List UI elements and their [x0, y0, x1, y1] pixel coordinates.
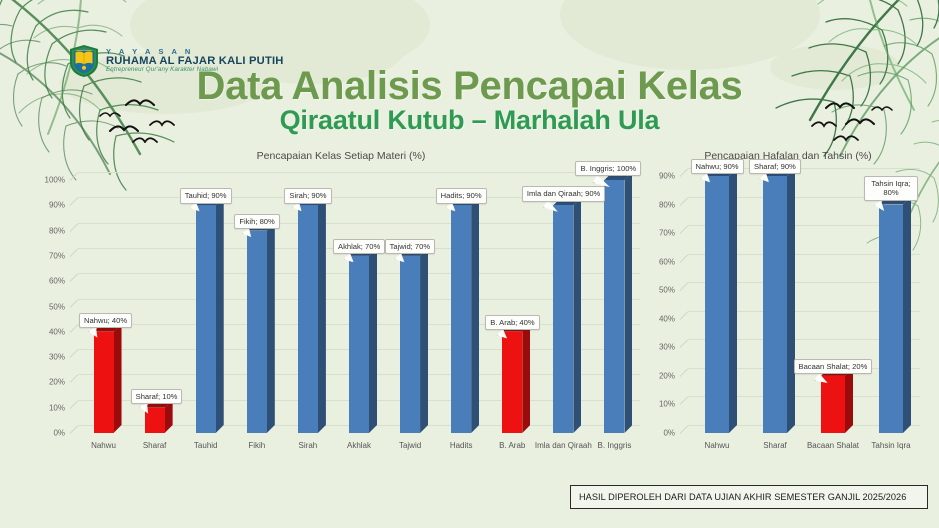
- page-title: Data Analisis Pencapai Kelas: [0, 64, 939, 109]
- y-axis-tick: 20%: [36, 378, 65, 387]
- y-axis-tick: 60%: [648, 257, 675, 266]
- data-label-callout: Sirah; 90%: [284, 188, 331, 203]
- x-axis-tick: B. Inggris: [583, 441, 646, 451]
- gridline-depth: [70, 375, 79, 384]
- bar-front-face: [349, 256, 369, 433]
- gridline-depth: [70, 248, 79, 257]
- bar-sirah[interactable]: [298, 205, 326, 433]
- footnote-box: HASIL DIPEROLEH DARI DATA UJIAN AKHIR SE…: [570, 485, 928, 509]
- data-label-callout: Fikih; 80%: [234, 214, 279, 229]
- y-axis-tick: 90%: [648, 172, 675, 181]
- gridline-depth: [70, 273, 79, 282]
- gridline-depth: [70, 223, 79, 232]
- cloud-decoration: [560, 0, 820, 70]
- bar-side-face: [471, 197, 479, 433]
- bar-side-face: [267, 223, 275, 433]
- bar-sharaf[interactable]: [763, 176, 795, 433]
- bar-nahwu[interactable]: [94, 332, 122, 433]
- bar-side-face: [114, 324, 122, 433]
- data-label-callout: Tauhid; 90%: [180, 188, 232, 203]
- y-axis-tick: 50%: [648, 286, 675, 295]
- data-label-callout: Sharaf; 10%: [131, 389, 183, 404]
- gridline-depth: [70, 425, 79, 434]
- bar-front-face: [451, 205, 471, 433]
- bar-front-face: [94, 332, 114, 433]
- plot-area: 0%10%20%30%40%50%60%70%80%90%100%Nahwu; …: [36, 150, 646, 475]
- bar-side-face: [903, 197, 911, 433]
- y-axis-tick: 70%: [36, 251, 65, 260]
- bar-imla-dan-qiraah[interactable]: [553, 205, 581, 433]
- data-label-callout: Akhlak; 70%: [333, 239, 385, 254]
- data-label-callout: Sharaf; 90%: [749, 159, 801, 174]
- y-axis-tick: 10%: [36, 403, 65, 412]
- bar-side-face: [369, 248, 377, 433]
- gridline-depth: [680, 282, 689, 291]
- bar-front-face: [705, 176, 729, 433]
- data-label-callout: Tajwid; 70%: [385, 239, 436, 254]
- gridline-depth: [680, 397, 689, 406]
- bar-front-face: [400, 256, 420, 433]
- bar-akhlak[interactable]: [349, 256, 377, 433]
- gridline-depth: [70, 400, 79, 409]
- bar-front-face: [553, 205, 573, 433]
- x-axis-tick: Tahsin Iqra: [856, 441, 926, 451]
- gridline-depth: [680, 254, 689, 263]
- y-axis-tick: 60%: [36, 277, 65, 286]
- bar-side-face: [624, 172, 632, 433]
- y-axis-tick: 20%: [648, 371, 675, 380]
- gridline: [78, 172, 640, 173]
- data-label-callout: B. Arab; 40%: [485, 315, 539, 330]
- y-axis-tick: 30%: [648, 343, 675, 352]
- y-axis-tick: 40%: [648, 314, 675, 323]
- bar-side-face: [729, 168, 737, 433]
- bar-front-face: [298, 205, 318, 433]
- bar-b-inggris[interactable]: [604, 180, 632, 433]
- data-label-callout: Imla dan Qiraah; 90%: [522, 186, 605, 201]
- y-axis-tick: 0%: [648, 429, 675, 438]
- data-label-callout: Bacaan Shalat; 20%: [794, 359, 873, 374]
- gridline-depth: [680, 168, 689, 177]
- data-label-callout: Nahwu; 40%: [79, 313, 132, 328]
- y-axis-tick: 40%: [36, 327, 65, 336]
- gridline-depth: [680, 339, 689, 348]
- bar-fikih[interactable]: [247, 231, 275, 433]
- bar-side-face: [420, 248, 428, 433]
- bar-side-face: [216, 197, 224, 433]
- bar-tahsin-iqra[interactable]: [879, 205, 911, 433]
- bar-b-arab[interactable]: [502, 332, 530, 433]
- gridline-depth: [680, 225, 689, 234]
- bar-side-face: [787, 168, 795, 433]
- gridline-depth: [70, 324, 79, 333]
- chart-pencapaian-kelas-setiap-materi: Pencapaian Kelas Setiap Materi (%)0%10%2…: [36, 150, 646, 475]
- y-axis-tick: 70%: [648, 229, 675, 238]
- data-label-callout: Hadits; 90%: [436, 188, 487, 203]
- y-axis-tick: 10%: [648, 400, 675, 409]
- bar-side-face: [573, 197, 581, 433]
- gridline-depth: [70, 172, 79, 181]
- gridline-depth: [680, 311, 689, 320]
- gridline-depth: [70, 349, 79, 358]
- y-axis-tick: 80%: [36, 226, 65, 235]
- y-axis-tick: 100%: [36, 176, 65, 185]
- y-axis-tick: 80%: [648, 200, 675, 209]
- y-axis-tick: 90%: [36, 201, 65, 210]
- data-label-callout: Nahwu; 90%: [691, 159, 744, 174]
- slide-canvas: Y A Y A S A N RUHAMA AL FAJAR KALI PUTIH…: [0, 0, 939, 528]
- bar-front-face: [879, 205, 903, 433]
- bar-tajwid[interactable]: [400, 256, 428, 433]
- bar-hadits[interactable]: [451, 205, 479, 433]
- y-axis-tick: 30%: [36, 353, 65, 362]
- bar-bacaan-shalat[interactable]: [821, 376, 853, 433]
- plot-area: 0%10%20%30%40%50%60%70%80%90%Nahwu; 90%N…: [648, 150, 928, 475]
- page-subtitle: Qiraatul Kutub – Marhalah Ula: [0, 105, 939, 136]
- gridline-depth: [680, 197, 689, 206]
- bar-side-face: [522, 324, 530, 433]
- bar-front-face: [502, 332, 522, 433]
- chart-pencapaian-hafalan-dan-tahsin: Pencapaian Hafalan dan Tahsin (%)0%10%20…: [648, 150, 928, 475]
- gridline-depth: [680, 425, 689, 434]
- data-label-callout: Tahsin Iqra; 80%: [864, 176, 918, 201]
- y-axis-tick: 50%: [36, 302, 65, 311]
- gridline-depth: [680, 368, 689, 377]
- bar-sharaf[interactable]: [145, 408, 173, 433]
- bar-side-face: [318, 197, 326, 433]
- bar-front-face: [196, 205, 216, 433]
- bar-front-face: [763, 176, 787, 433]
- bar-front-face: [604, 180, 624, 433]
- bar-front-face: [821, 376, 845, 433]
- bar-nahwu[interactable]: [705, 176, 737, 433]
- gridline-depth: [70, 299, 79, 308]
- y-axis-tick: 0%: [36, 429, 65, 438]
- bar-side-face: [845, 368, 853, 433]
- data-label-callout: B. Inggris; 100%: [575, 161, 641, 176]
- gridline-depth: [70, 197, 79, 206]
- bar-tauhid[interactable]: [196, 205, 224, 433]
- bar-front-face: [247, 231, 267, 433]
